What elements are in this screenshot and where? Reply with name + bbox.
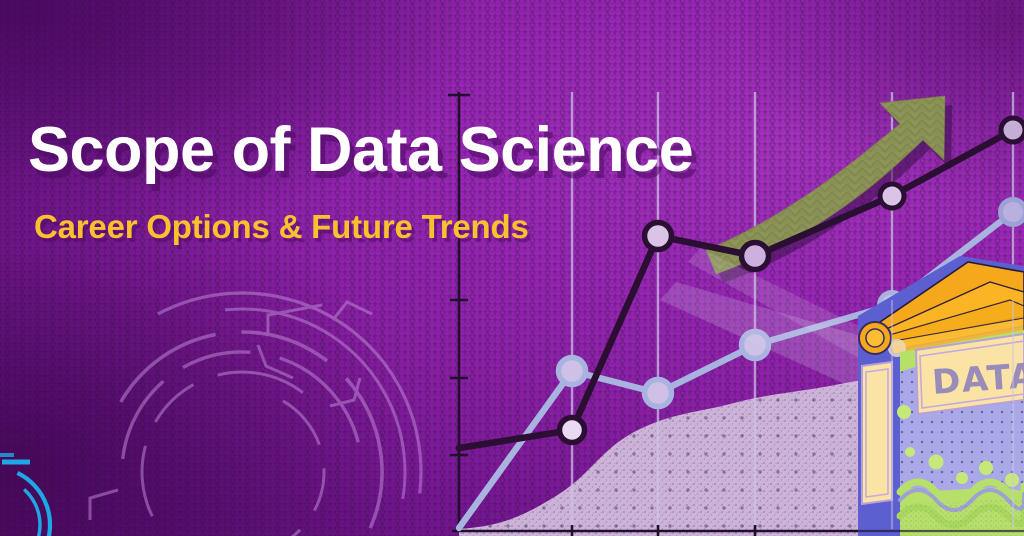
book-data-label: DATA. <box>931 355 1024 403</box>
book-left-strip <box>862 362 892 504</box>
hud-cyan-arc <box>0 447 70 536</box>
tech-circle-decoration <box>0 230 484 536</box>
headline-block: Scope of Data Science Career Options & F… <box>28 118 868 243</box>
chart-illustration: DATA. <box>0 0 1024 536</box>
page-title: Scope of Data Science <box>28 118 868 182</box>
page-subtitle: Career Options & Future Trends <box>34 210 868 243</box>
banner-graphic: DATA. Scope of Data Science Career Optio… <box>0 0 1024 536</box>
